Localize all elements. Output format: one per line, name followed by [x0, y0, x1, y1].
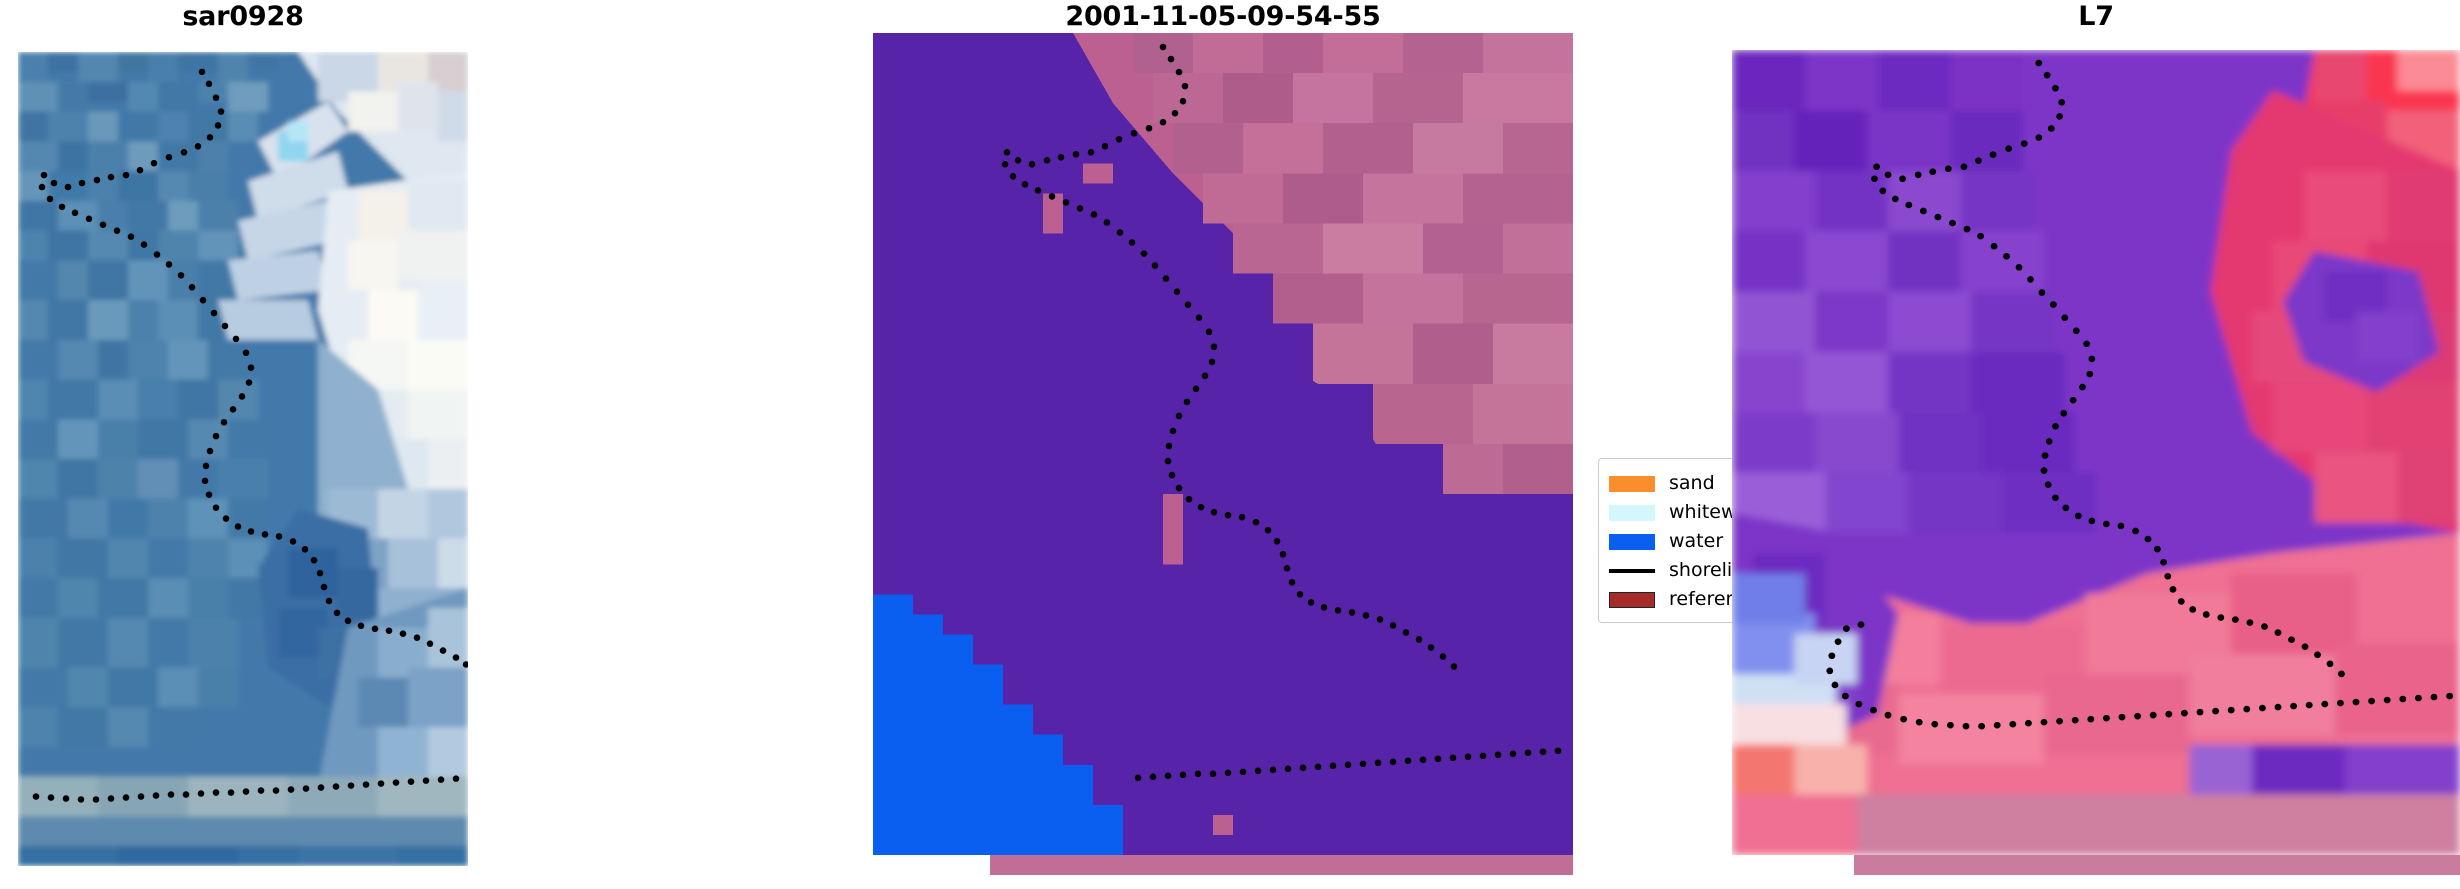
legend-label-whitewater: whitewater: [1669, 503, 1732, 522]
reference-swatch-icon: [1609, 592, 1655, 608]
figure-canvas: sar0928: [0, 0, 2460, 889]
legend-label-reference: reference: [1669, 590, 1732, 609]
legend: sand whitewater water shoreline referenc…: [1592, 452, 1732, 632]
legend-item-water: water: [1609, 527, 1732, 556]
legend-box: sand whitewater water shoreline referenc…: [1598, 458, 1732, 623]
panel-sar: sar0928: [18, 0, 468, 889]
sand-swatch-icon: [1609, 476, 1655, 492]
legend-item-shoreline: shoreline: [1609, 556, 1732, 585]
reference-strip-classification: [990, 855, 1573, 875]
panel-l7: L7: [1732, 0, 2460, 889]
shoreline-line-icon: [1609, 569, 1655, 573]
legend-label-shoreline: shoreline: [1669, 561, 1732, 580]
reference-strip-l7: [1854, 855, 2460, 875]
whitewater-swatch-icon: [1609, 505, 1655, 521]
legend-label-sand: sand: [1669, 474, 1715, 493]
legend-label-water: water: [1669, 532, 1723, 551]
panel-classification: 2001-11-05-09-54-55: [873, 0, 1573, 889]
legend-item-reference: reference: [1609, 585, 1732, 614]
classification-raster: [873, 33, 1573, 855]
panel-classification-image[interactable]: [873, 33, 1573, 855]
legend-item-whitewater: whitewater: [1609, 498, 1732, 527]
l7-raster: [1732, 50, 2460, 855]
panel-sar-title: sar0928: [18, 0, 468, 34]
panel-classification-title: 2001-11-05-09-54-55: [873, 0, 1573, 34]
panel-l7-title: L7: [1732, 0, 2460, 34]
legend-item-sand: sand: [1609, 469, 1732, 498]
water-swatch-icon: [1609, 534, 1655, 550]
sar-raster: [18, 52, 468, 866]
panel-sar-image[interactable]: [18, 52, 468, 866]
panel-l7-image[interactable]: [1732, 50, 2460, 855]
